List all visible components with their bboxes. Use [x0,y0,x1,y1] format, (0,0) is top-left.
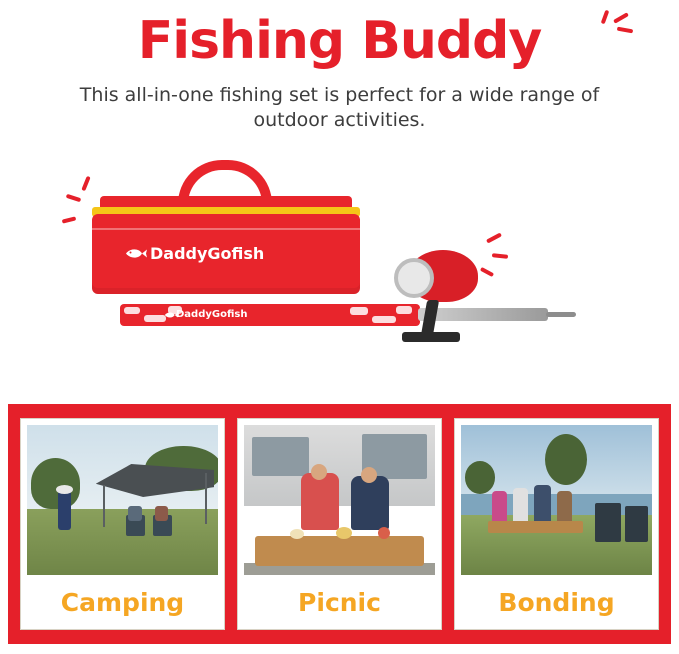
fishing-reel [388,244,486,310]
fish-logo-icon [125,247,147,260]
spark-decoration-icon [595,10,635,50]
page-subtitle: This all-in-one fishing set is perfect f… [0,83,679,134]
bag-brand-label: DaddyGofish [150,244,264,263]
spark-right-1-icon [486,232,502,243]
header: Fishing Buddy This all-in-one fishing se… [0,0,679,134]
product-image: DaddyGofish DaddyGofish [0,152,679,362]
product-infographic: Fishing Buddy This all-in-one fishing se… [0,0,679,654]
bonding-caption: Bonding [461,575,652,629]
spark-left-3-icon [62,216,77,223]
picnic-photo [244,425,435,575]
page-title: Fishing Buddy [0,14,679,69]
use-case-card-picnic[interactable]: Picnic [237,418,442,630]
use-case-card-camping[interactable]: Camping [20,418,225,630]
use-case-cards: Camping Picnic [20,418,659,630]
bonding-photo [461,425,652,575]
picnic-caption: Picnic [244,575,435,629]
spark-left-1-icon [81,176,90,191]
camping-photo [27,425,218,575]
use-case-card-bonding[interactable]: Bonding [454,418,659,630]
rod-tip [546,312,576,317]
spark-right-2-icon [492,253,508,259]
spark-left-2-icon [66,194,82,202]
camping-caption: Camping [27,575,218,629]
use-cases-panel: Camping Picnic [8,404,671,644]
rod-brand-label: DaddyGofish [176,309,247,320]
